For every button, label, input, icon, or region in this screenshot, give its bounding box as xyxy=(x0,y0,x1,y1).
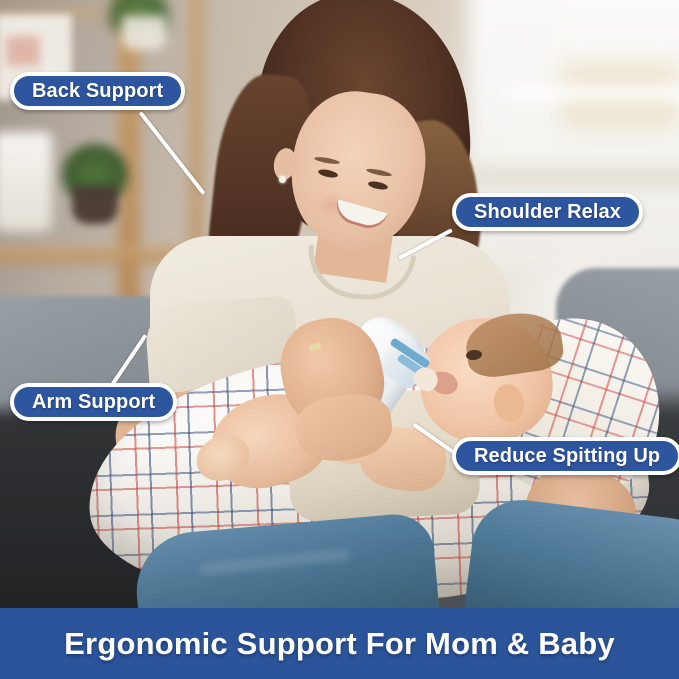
product-lifestyle-photo: Back Support Shoulder Relax Arm Support … xyxy=(0,0,679,608)
banner-headline: Ergonomic Support For Mom & Baby xyxy=(64,626,615,662)
potted-plant-top-pot xyxy=(122,16,166,50)
framed-picture-artwork xyxy=(6,36,40,66)
window-sill xyxy=(470,166,679,188)
table-lamp xyxy=(0,132,52,232)
callout-reduce-spitting-up[interactable]: Reduce Spitting Up xyxy=(452,437,679,475)
potted-plant-pot xyxy=(72,186,118,224)
callout-arm-support[interactable]: Arm Support xyxy=(10,383,177,421)
window-frame xyxy=(505,86,679,100)
callout-back-support[interactable]: Back Support xyxy=(10,72,185,110)
callout-shoulder-relax[interactable]: Shoulder Relax xyxy=(452,193,643,231)
bottom-banner: Ergonomic Support For Mom & Baby xyxy=(0,608,679,679)
earring xyxy=(279,176,286,183)
product-infographic-poster: Back Support Shoulder Relax Arm Support … xyxy=(0,0,679,679)
